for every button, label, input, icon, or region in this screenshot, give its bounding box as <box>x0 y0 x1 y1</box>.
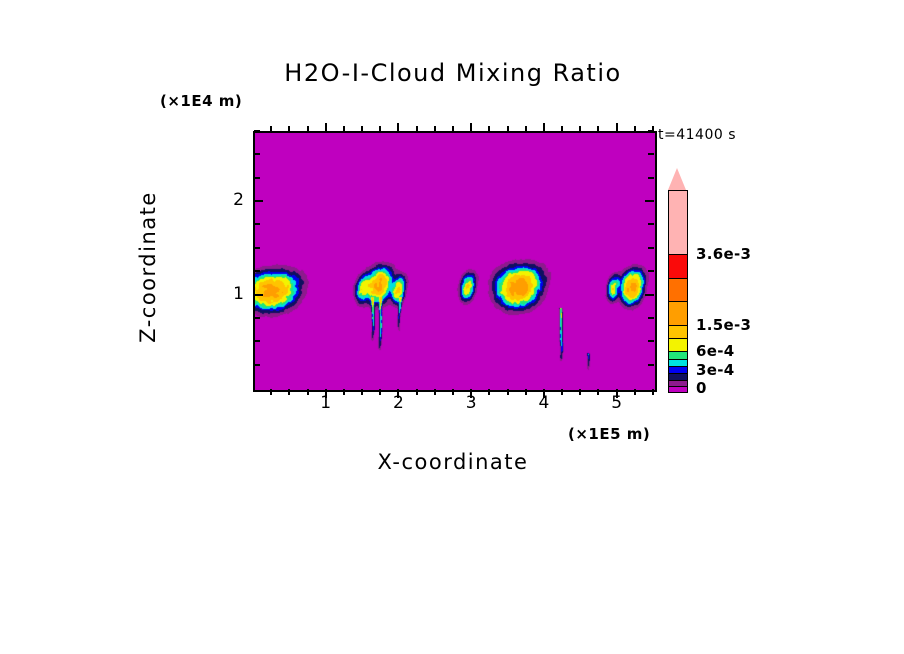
y-axis-tick-right <box>648 130 654 132</box>
x-axis-tick-top <box>561 126 563 132</box>
colorbar-band-1 <box>669 254 687 278</box>
colorbar-bands <box>668 190 688 393</box>
y-axis-tick-right <box>648 153 654 155</box>
y-axis-tick <box>254 223 260 225</box>
x-axis-tick-top <box>270 126 272 132</box>
x-axis-tick <box>307 389 309 395</box>
colorbar-label-0: 3.6e-3 <box>696 245 751 263</box>
colorbar-label-4: 0 <box>696 379 707 397</box>
page-title: H2O-I-Cloud Mixing Ratio <box>253 59 653 87</box>
x-axis-tick-top <box>361 126 363 132</box>
x-axis-tick-label: 2 <box>383 393 413 413</box>
y-axis-tick <box>254 200 263 202</box>
x-axis-tick-top <box>634 126 636 132</box>
y-axis-tick-label: 1 <box>222 284 244 304</box>
y-axis-tick <box>254 294 263 296</box>
x-axis-tick-top <box>616 123 618 132</box>
x-axis-tick-top <box>507 126 509 132</box>
x-axis-tick <box>579 389 581 395</box>
y-axis-tick <box>254 340 260 342</box>
y-axis-tick <box>254 153 260 155</box>
x-axis-tick-top <box>470 123 472 132</box>
x-axis-tick-top <box>525 126 527 132</box>
x-axis-tick-top <box>307 126 309 132</box>
x-axis-tick <box>452 389 454 395</box>
colorbar-band-9 <box>669 373 687 380</box>
y-axis-tick-right <box>648 177 654 179</box>
x-axis-tick <box>652 389 654 395</box>
colorbar-label-2: 6e-4 <box>696 342 734 360</box>
x-axis-tick <box>507 389 509 395</box>
y-axis-tick-right <box>648 317 654 319</box>
y-axis-tick <box>254 130 260 132</box>
x-axis-tick-top <box>397 123 399 132</box>
x-axis-tick <box>288 389 290 395</box>
colorbar-label-3: 3e-4 <box>696 361 734 379</box>
colorbar-band-6 <box>669 351 687 359</box>
x-axis-tick <box>270 389 272 395</box>
colorbar-band-2 <box>669 278 687 301</box>
contour-field-canvas <box>255 133 655 390</box>
x-axis-tick <box>488 389 490 395</box>
x-axis-tick <box>379 389 381 395</box>
y-axis-tick-right <box>648 364 654 366</box>
x-axis-unit-label: (×1E5 m) <box>568 425 650 443</box>
plot-area <box>253 131 657 392</box>
y-axis-tick <box>254 317 260 319</box>
y-axis-tick <box>254 177 260 179</box>
x-axis-tick-top <box>343 126 345 132</box>
x-axis-tick-top <box>597 126 599 132</box>
y-axis-tick <box>254 247 260 249</box>
x-axis-tick <box>361 389 363 395</box>
y-axis-tick-right <box>645 200 654 202</box>
y-axis-tick <box>254 270 260 272</box>
x-axis-tick-label: 1 <box>311 393 341 413</box>
colorbar-band-11 <box>669 386 687 392</box>
x-axis-tick <box>634 389 636 395</box>
colorbar-band-0 <box>669 191 687 254</box>
x-axis-tick-top <box>579 126 581 132</box>
y-axis-tick-right <box>648 270 654 272</box>
colorbar-band-5 <box>669 338 687 351</box>
y-axis-unit-label: (×1E4 m) <box>160 92 242 110</box>
y-axis-tick <box>254 364 260 366</box>
x-axis-tick <box>561 389 563 395</box>
x-axis-tick-top <box>452 126 454 132</box>
colorbar-band-4 <box>669 325 687 338</box>
figure-root: H2O-I-Cloud Mixing Ratio (×1E4 m) t=4140… <box>0 0 904 654</box>
x-axis-tick <box>416 389 418 395</box>
x-axis-tick-top <box>434 126 436 132</box>
colorbar-band-3 <box>669 301 687 325</box>
x-axis-tick <box>343 389 345 395</box>
colorbar-over-arrow <box>668 168 686 190</box>
x-axis-tick-label: 3 <box>456 393 486 413</box>
x-axis-tick-top <box>416 126 418 132</box>
x-axis-tick-label: 5 <box>602 393 632 413</box>
x-axis-tick-top <box>288 126 290 132</box>
colorbar-band-8 <box>669 366 687 373</box>
x-axis-tick <box>525 389 527 395</box>
timestamp-label: t=41400 s <box>658 127 736 143</box>
y-axis-title: Z-coordinate <box>136 67 160 467</box>
y-axis-tick-right <box>648 247 654 249</box>
y-axis-tick-right <box>645 294 654 296</box>
x-axis-tick <box>597 389 599 395</box>
x-axis-tick-top <box>379 126 381 132</box>
x-axis-tick <box>434 389 436 395</box>
y-axis-tick-label: 2 <box>222 190 244 210</box>
x-axis-tick-label: 4 <box>529 393 559 413</box>
colorbar-label-1: 1.5e-3 <box>696 316 751 334</box>
x-axis-tick-top <box>325 123 327 132</box>
x-axis-tick-top <box>488 126 490 132</box>
colorbar-band-7 <box>669 359 687 366</box>
y-axis-tick-right <box>648 340 654 342</box>
y-axis-tick-right <box>648 223 654 225</box>
x-axis-title: X-coordinate <box>253 450 653 474</box>
x-axis-tick-top <box>543 123 545 132</box>
